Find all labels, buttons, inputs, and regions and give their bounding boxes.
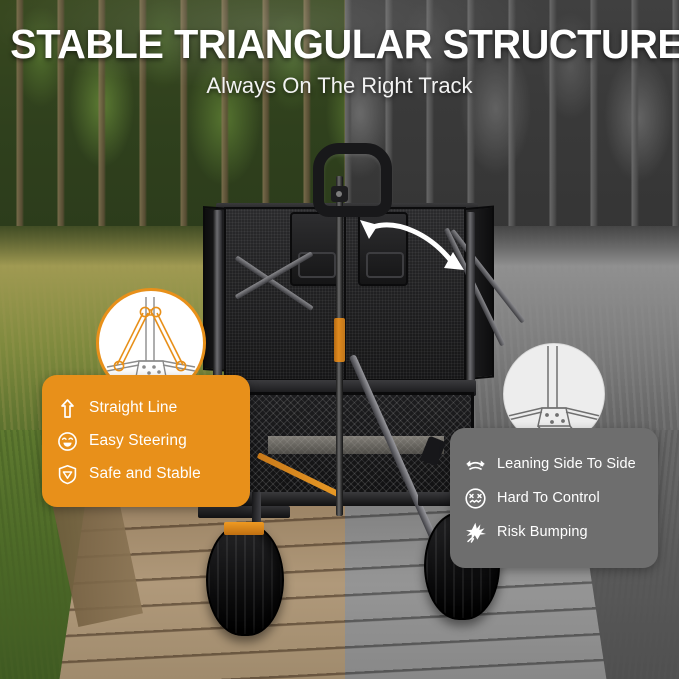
benefit-label: Easy Steering bbox=[89, 432, 187, 450]
wagon-orange-handle-clip bbox=[334, 318, 345, 362]
wagon-brake-pedal bbox=[224, 522, 264, 535]
page-title: STABLE TRIANGULAR STRUCTURE bbox=[10, 0, 669, 65]
drawback-item: Leaning Side To Side bbox=[464, 447, 658, 481]
header-block: STABLE TRIANGULAR STRUCTURE Always On Th… bbox=[0, 0, 679, 97]
benefits-panel: Straight Line Easy Steering Safe and bbox=[42, 375, 250, 507]
dizzy-face-icon bbox=[464, 487, 487, 510]
shield-check-icon bbox=[56, 463, 79, 486]
wagon-cup-holder-left bbox=[290, 212, 340, 286]
smiling-face-icon bbox=[56, 430, 79, 453]
drawback-item: Hard To Control bbox=[464, 481, 658, 515]
impact-burst-icon bbox=[464, 521, 487, 544]
product-feature-image: STABLE TRIANGULAR STRUCTURE Always On Th… bbox=[0, 0, 679, 679]
page-subtitle: Always On The Right Track bbox=[0, 65, 679, 97]
wagon-floor-board bbox=[268, 436, 444, 454]
drawbacks-panel: Leaning Side To Side Hard To Control bbox=[450, 428, 658, 568]
drawback-label: Leaning Side To Side bbox=[497, 456, 636, 472]
wagon-wheel-left bbox=[206, 524, 284, 636]
wagon-axle-left bbox=[198, 506, 290, 518]
benefit-item: Safe and Stable bbox=[56, 458, 250, 491]
benefit-item: Straight Line bbox=[56, 392, 250, 425]
benefit-label: Safe and Stable bbox=[89, 465, 201, 483]
pivot-double-arrow bbox=[352, 212, 472, 278]
drawback-label: Hard To Control bbox=[497, 490, 600, 506]
wagon-handle-collar bbox=[331, 186, 348, 202]
drawback-label: Risk Bumping bbox=[497, 524, 588, 540]
benefit-label: Straight Line bbox=[89, 399, 177, 417]
rocking-arrows-icon bbox=[464, 453, 487, 476]
up-arrow-icon bbox=[56, 397, 79, 420]
wagon-handle-grip bbox=[313, 143, 392, 217]
wagon-corner-post-left bbox=[213, 210, 222, 378]
drawback-item: Risk Bumping bbox=[464, 515, 658, 549]
benefit-item: Easy Steering bbox=[56, 425, 250, 458]
